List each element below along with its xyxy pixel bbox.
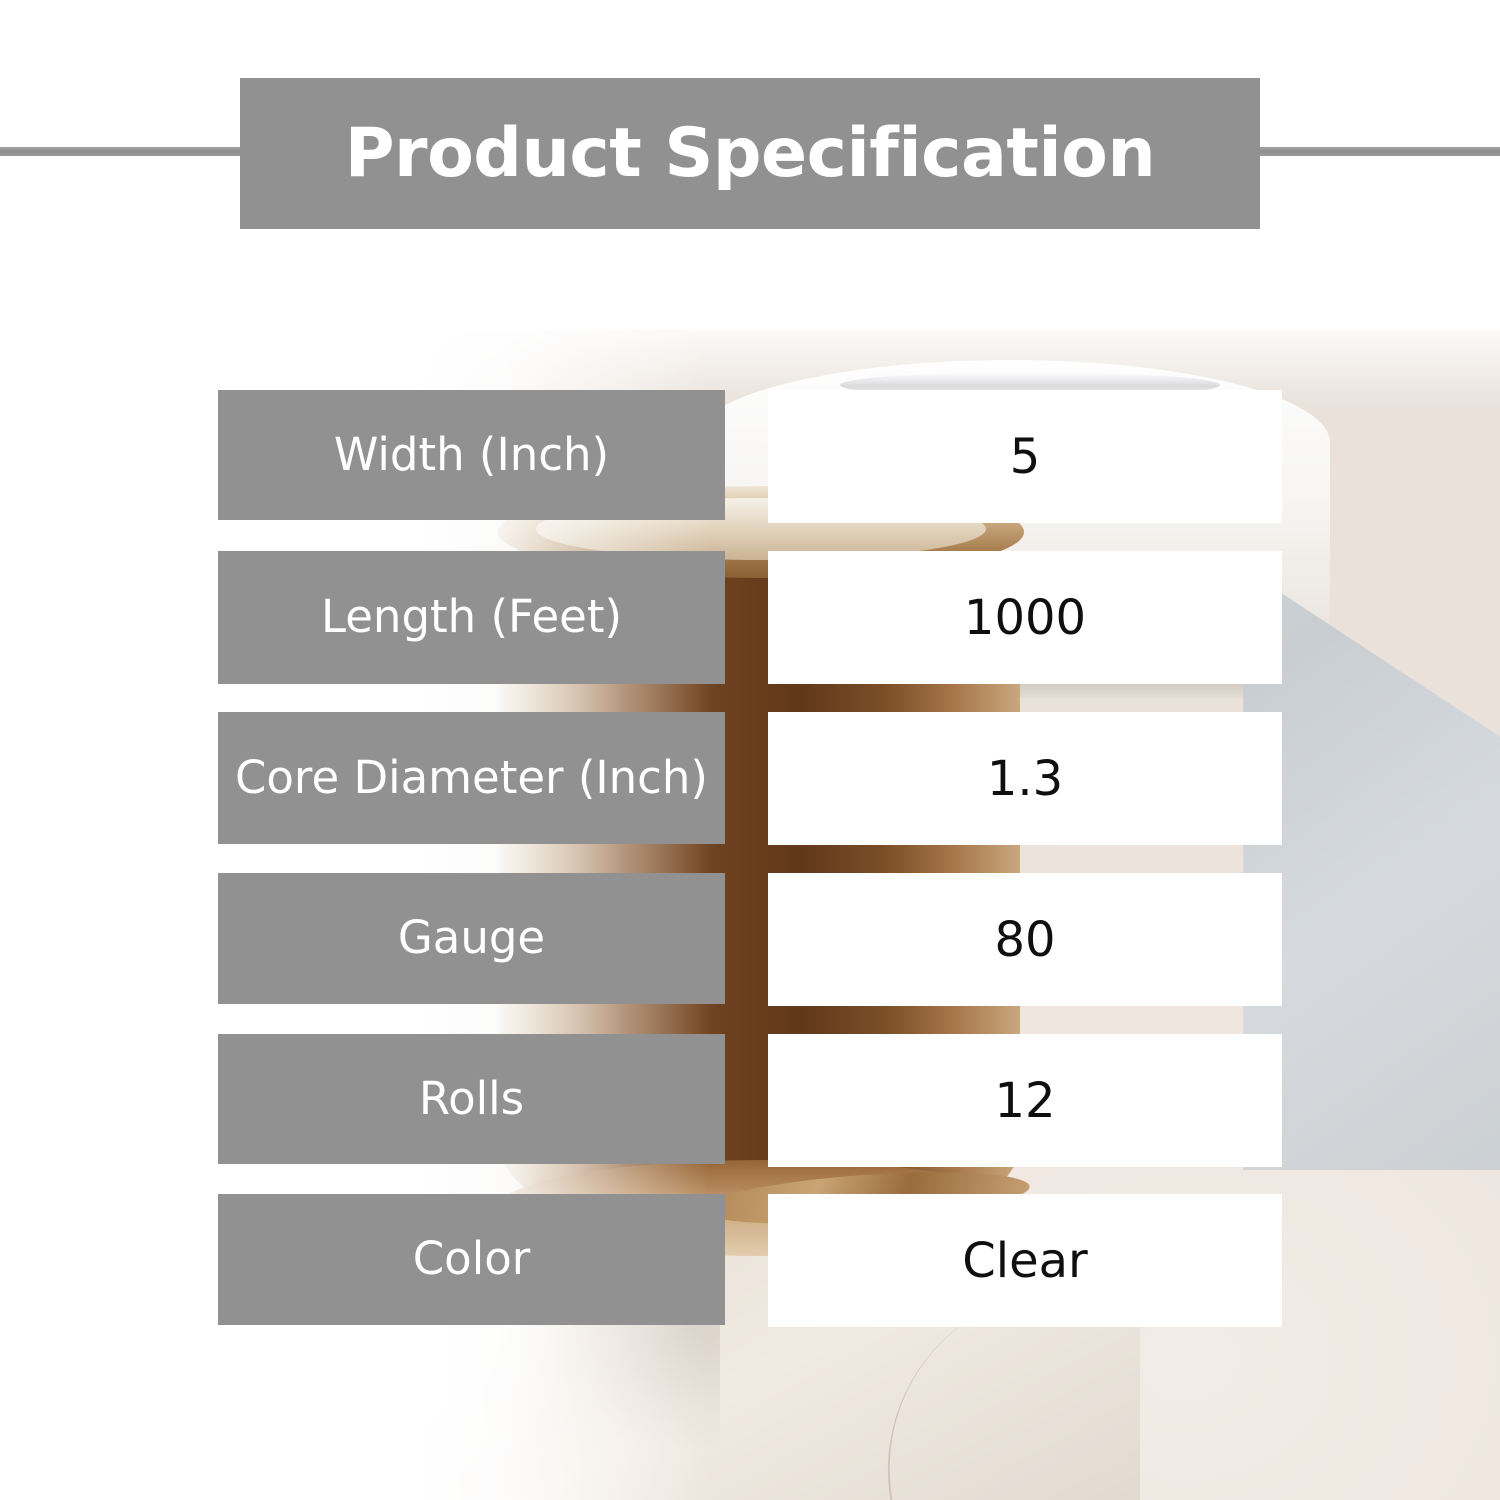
spec-label-text: Gauge [398,916,545,960]
spec-label-text: Width (Inch) [334,433,609,477]
spec-label-text: Core Diameter (Inch) [235,756,708,800]
spec-label-text: Rolls [419,1077,524,1121]
spec-value-text: 12 [994,1077,1055,1125]
spec-value-text: 1.3 [987,755,1063,803]
spec-table: Width (Inch) 5 Length (Feet) 1000 Core D… [0,0,1500,1500]
spec-value-text: 1000 [964,594,1086,642]
spec-value-text: 80 [994,916,1055,964]
spec-value-length: 1000 [768,551,1282,684]
spec-label-color: Color [218,1194,725,1325]
infographic-canvas: Product Specification Width (Inch) 5 Len… [0,0,1500,1500]
spec-value-gauge: 80 [768,873,1282,1006]
spec-value-color: Clear [768,1194,1282,1327]
spec-label-text: Length (Feet) [321,595,622,639]
spec-label-rolls: Rolls [218,1034,725,1164]
spec-value-rolls: 12 [768,1034,1282,1167]
spec-label-length: Length (Feet) [218,551,725,684]
spec-label-gauge: Gauge [218,873,725,1004]
spec-value-text: Clear [962,1237,1088,1285]
spec-label-width: Width (Inch) [218,390,725,520]
spec-value-text: 5 [1010,433,1041,481]
spec-value-core-diameter: 1.3 [768,712,1282,845]
spec-label-text: Color [413,1237,531,1281]
spec-value-width: 5 [768,390,1282,523]
spec-label-core-diameter: Core Diameter (Inch) [218,712,725,844]
